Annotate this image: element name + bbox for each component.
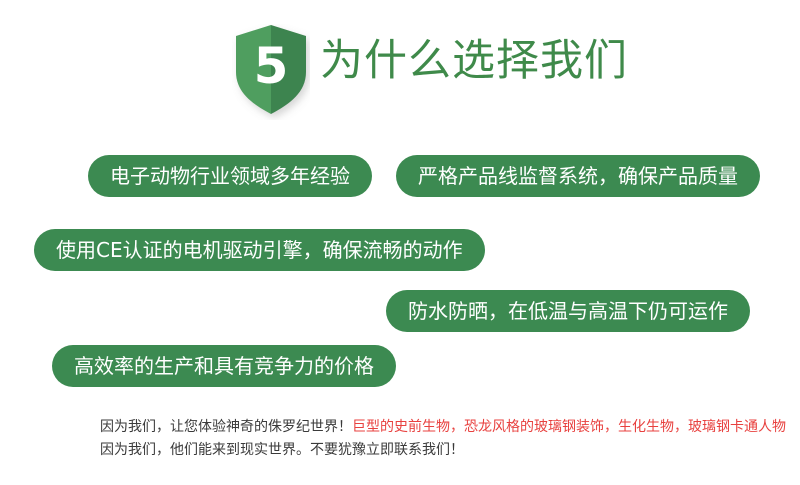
- promo-banner: 5 为什么选择我们 电子动物行业领域多年经验 严格产品线监督系统，确保产品质量 …: [0, 0, 800, 485]
- shield-badge: 5: [232, 24, 310, 120]
- feature-pill-price: 高效率的生产和具有竞争力的价格: [52, 345, 396, 387]
- header: 5 为什么选择我们: [0, 24, 800, 134]
- feature-pill-experience: 电子动物行业领域多年经验: [88, 155, 372, 197]
- footer-line-2: 因为我们，他们能来到现实世界。不要犹豫立即联系我们！: [100, 439, 720, 462]
- footer-line-1: 因为我们，让您体验神奇的侏罗纪世界！巨型的史前生物，恐龙风格的玻璃钢装饰，生化生…: [100, 416, 720, 439]
- footer-line-1-highlight: 巨型的史前生物，恐龙风格的玻璃钢装饰，生化生物，玻璃钢卡通人物: [352, 419, 786, 435]
- feature-pill-quality: 严格产品线监督系统，确保产品质量: [396, 155, 760, 197]
- page-title: 为什么选择我们: [320, 38, 628, 85]
- header-inner: 5 为什么选择我们: [232, 24, 628, 120]
- feature-pill-ce-motor: 使用CE认证的电机驱动引擎，确保流畅的动作: [34, 229, 485, 271]
- feature-pill-weather: 防水防晒，在低温与高温下仍可运作: [386, 290, 750, 332]
- footer-text: 因为我们，让您体验神奇的侏罗纪世界！巨型的史前生物，恐龙风格的玻璃钢装饰，生化生…: [100, 416, 720, 462]
- badge-number: 5: [232, 24, 310, 108]
- footer-line-1-prefix: 因为我们，让您体验神奇的侏罗纪世界！: [100, 419, 352, 435]
